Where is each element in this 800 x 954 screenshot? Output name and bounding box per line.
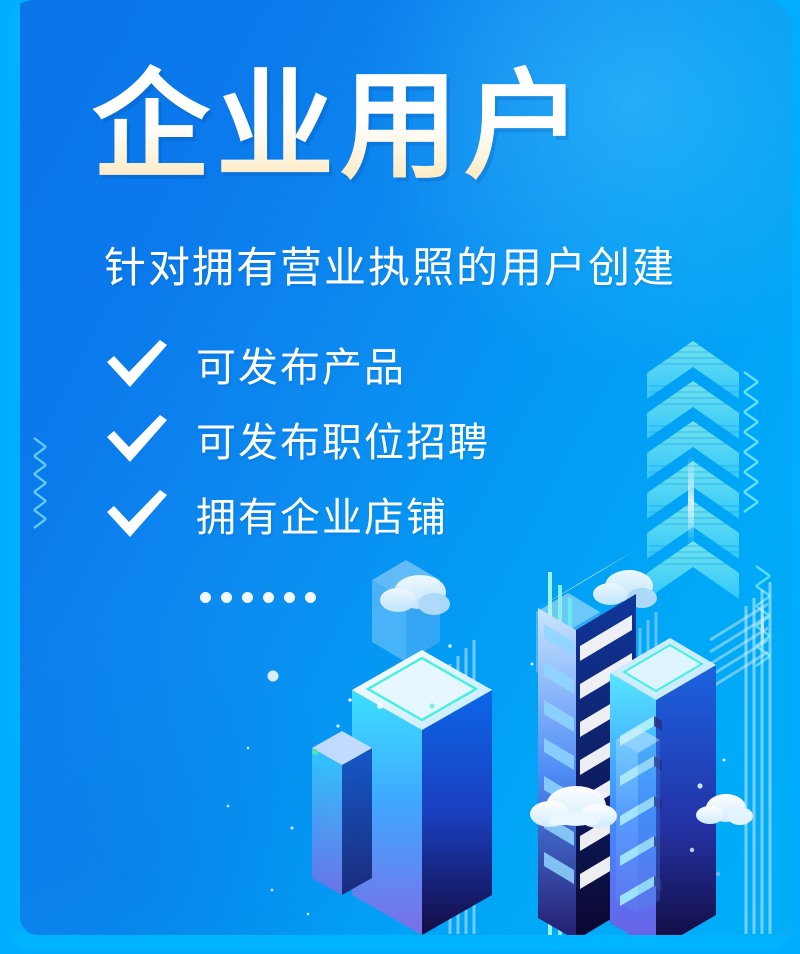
tower-small-left <box>312 731 372 895</box>
page-title: 企业用户 <box>92 58 588 197</box>
ellipsis-dots-icon <box>200 592 316 603</box>
dot <box>284 592 295 603</box>
page-subtitle: 针对拥有营业执照的用户创建 <box>104 234 676 295</box>
dot <box>263 592 274 603</box>
promo-panel: 企业用户 针对拥有营业执照的用户创建 可发布产品 可发布职位招聘 <box>20 0 792 935</box>
check-icon <box>104 413 170 465</box>
dot <box>242 592 253 603</box>
glass-slab <box>616 727 660 913</box>
dot <box>221 592 232 603</box>
feature-label: 可发布产品 <box>196 335 406 393</box>
feature-label: 可发布职位招聘 <box>196 410 490 468</box>
check-icon <box>104 488 170 540</box>
feature-label: 拥有企业店铺 <box>196 485 448 543</box>
check-icon <box>104 338 170 390</box>
feature-list: 可发布产品 可发布职位招聘 拥有企业店铺 <box>104 326 490 551</box>
dot <box>305 592 316 603</box>
list-item: 拥有企业店铺 <box>104 476 490 551</box>
chevron-arrow-up-large <box>647 341 739 599</box>
tower-center-tall <box>338 650 492 935</box>
diagonal-strip-right <box>710 604 768 688</box>
chevron-arrow-up-small-right <box>744 372 758 512</box>
promo-card: 企业用户 针对拥有营业执照的用户创建 可发布产品 可发布职位招聘 <box>8 0 792 950</box>
list-item: 可发布职位招聘 <box>104 401 490 476</box>
chevron-arrow-up-small-left <box>34 438 46 528</box>
list-item: 可发布产品 <box>104 326 490 401</box>
dot <box>200 592 211 603</box>
card-bottom-strip <box>8 935 792 950</box>
